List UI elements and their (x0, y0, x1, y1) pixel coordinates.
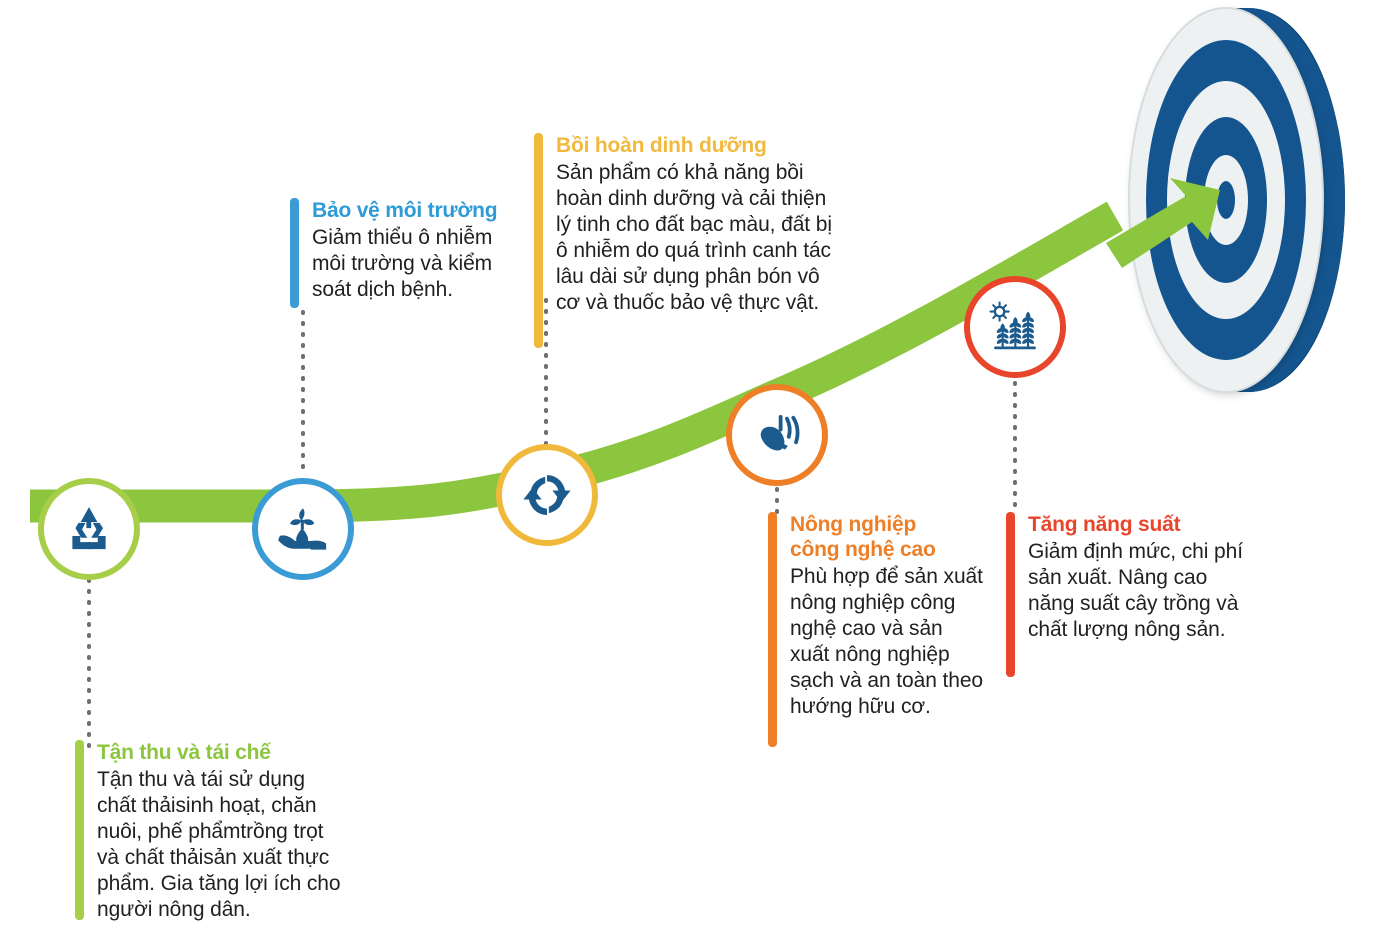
callout-title-4-line-1: Nông nghiệp (790, 512, 983, 537)
callout-title-5: Tăng năng suất (1028, 512, 1246, 537)
callout-desc-5: Giảm định mức, chi phí sản xuất. Nâng ca… (1028, 539, 1246, 643)
callout-accent-bar-3 (534, 133, 543, 348)
node-recycle[interactable] (38, 478, 140, 580)
callout-bao-ve-moi-truong: Bảo vệ môi trường Giảm thiểu ô nhiễm môi… (290, 198, 530, 308)
callout-body-2: Bảo vệ môi trường Giảm thiểu ô nhiễm môi… (299, 198, 530, 308)
cycle-arrows-icon (518, 466, 576, 524)
callout-body-3: Bồi hoàn dinh dưỡng Sản phẩm có khả năng… (543, 133, 839, 348)
callout-tan-thu-va-tai-che: Tận thu và tái chế Tận thu và tái sử dụn… (75, 740, 343, 920)
node-environment[interactable] (252, 478, 354, 580)
bullseye-target (1129, 8, 1345, 392)
node-productivity[interactable] (964, 276, 1066, 378)
callout-accent-bar-4 (768, 512, 777, 747)
callout-title-2: Bảo vệ môi trường (312, 198, 530, 223)
callout-desc-3: Sản phẩm có khả năng bồi hoàn dinh dưỡng… (556, 160, 839, 316)
hand-plant-water-icon (273, 501, 333, 557)
callout-accent-bar-2 (290, 198, 299, 308)
callout-desc-1: Tận thu và tái sử dụng chất thảisinh hoạ… (97, 767, 343, 923)
callout-body-1: Tận thu và tái chế Tận thu và tái sử dụn… (84, 740, 343, 920)
node-high-tech-agriculture[interactable] (726, 384, 828, 486)
callout-nong-nghiep-cong-nghe-cao: Nông nghiệp công nghệ cao Phù hợp để sản… (768, 512, 983, 747)
callout-accent-bar-1 (75, 740, 84, 920)
callout-desc-4: Phù hợp để sản xuất nông nghiệp công ngh… (790, 564, 983, 720)
infographic-canvas: Tận thu và tái chế Tận thu và tái sử dụn… (0, 0, 1373, 929)
callout-tang-nang-suat: Tăng năng suất Giảm định mức, chi phí sả… (1006, 512, 1246, 677)
callout-body-4: Nông nghiệp công nghệ cao Phù hợp để sản… (777, 512, 983, 747)
callout-desc-2: Giảm thiểu ô nhiễm môi trường và kiểm so… (312, 225, 530, 303)
callout-title-3: Bồi hoàn dinh dưỡng (556, 133, 839, 158)
crops-sun-icon (984, 298, 1046, 356)
callout-accent-bar-5 (1006, 512, 1015, 677)
node-nutrient-cycle[interactable] (496, 444, 598, 546)
satellite-signal-icon (747, 406, 807, 464)
callout-title-4-line-2: công nghệ cao (790, 537, 983, 562)
callout-boi-hoan-dinh-duong: Bồi hoàn dinh dưỡng Sản phẩm có khả năng… (534, 133, 839, 348)
callout-title-1: Tận thu và tái chế (97, 740, 343, 765)
recycle-icon (61, 501, 117, 557)
callout-body-5: Tăng năng suất Giảm định mức, chi phí sả… (1015, 512, 1246, 677)
